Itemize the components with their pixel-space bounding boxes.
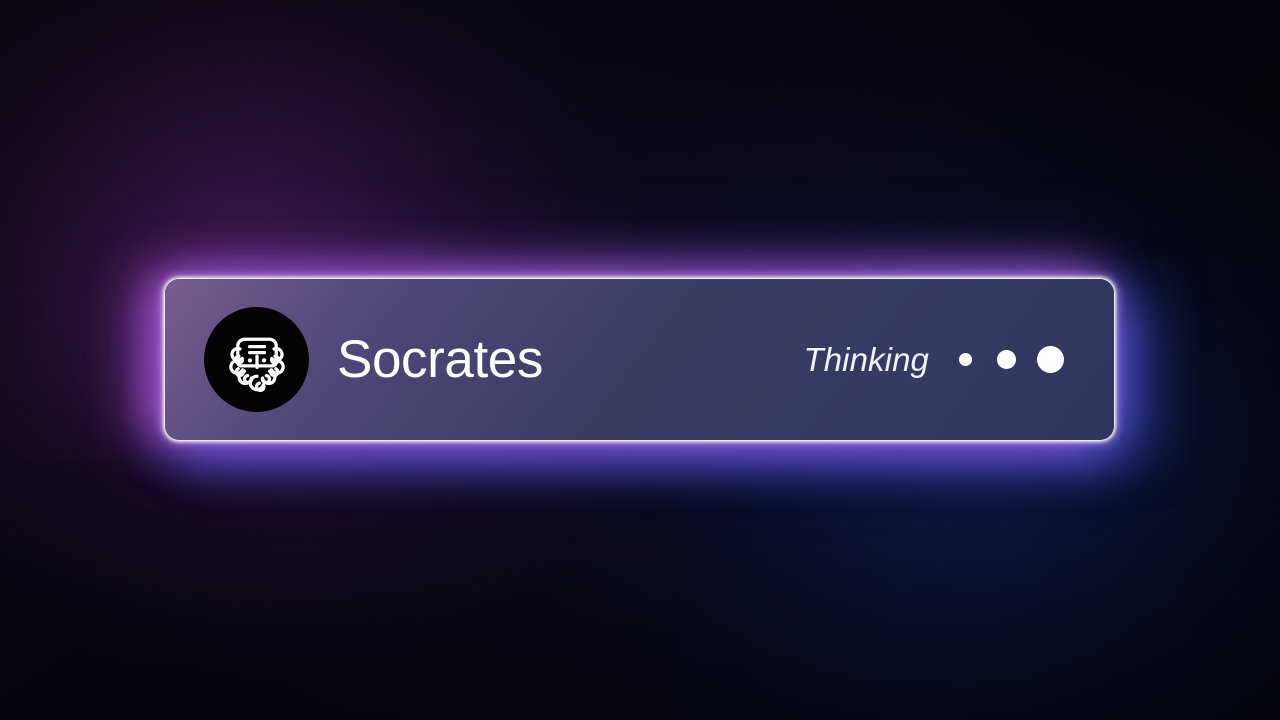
agent-name: Socrates (337, 333, 543, 386)
status-indicator: Thinking (803, 343, 1064, 376)
loading-dot-1 (959, 353, 972, 366)
avatar[interactable] (204, 307, 309, 412)
agent-status-card[interactable]: Socrates Thinking (164, 278, 1115, 441)
status-label: Thinking (803, 343, 929, 376)
loading-dots (949, 346, 1064, 373)
socrates-philosopher-face-icon (220, 323, 294, 397)
card-content: Socrates Thinking (165, 279, 1114, 440)
loading-dot-2 (997, 350, 1016, 369)
loading-dot-3 (1037, 346, 1064, 373)
app-root: Socrates Thinking (0, 0, 1280, 720)
